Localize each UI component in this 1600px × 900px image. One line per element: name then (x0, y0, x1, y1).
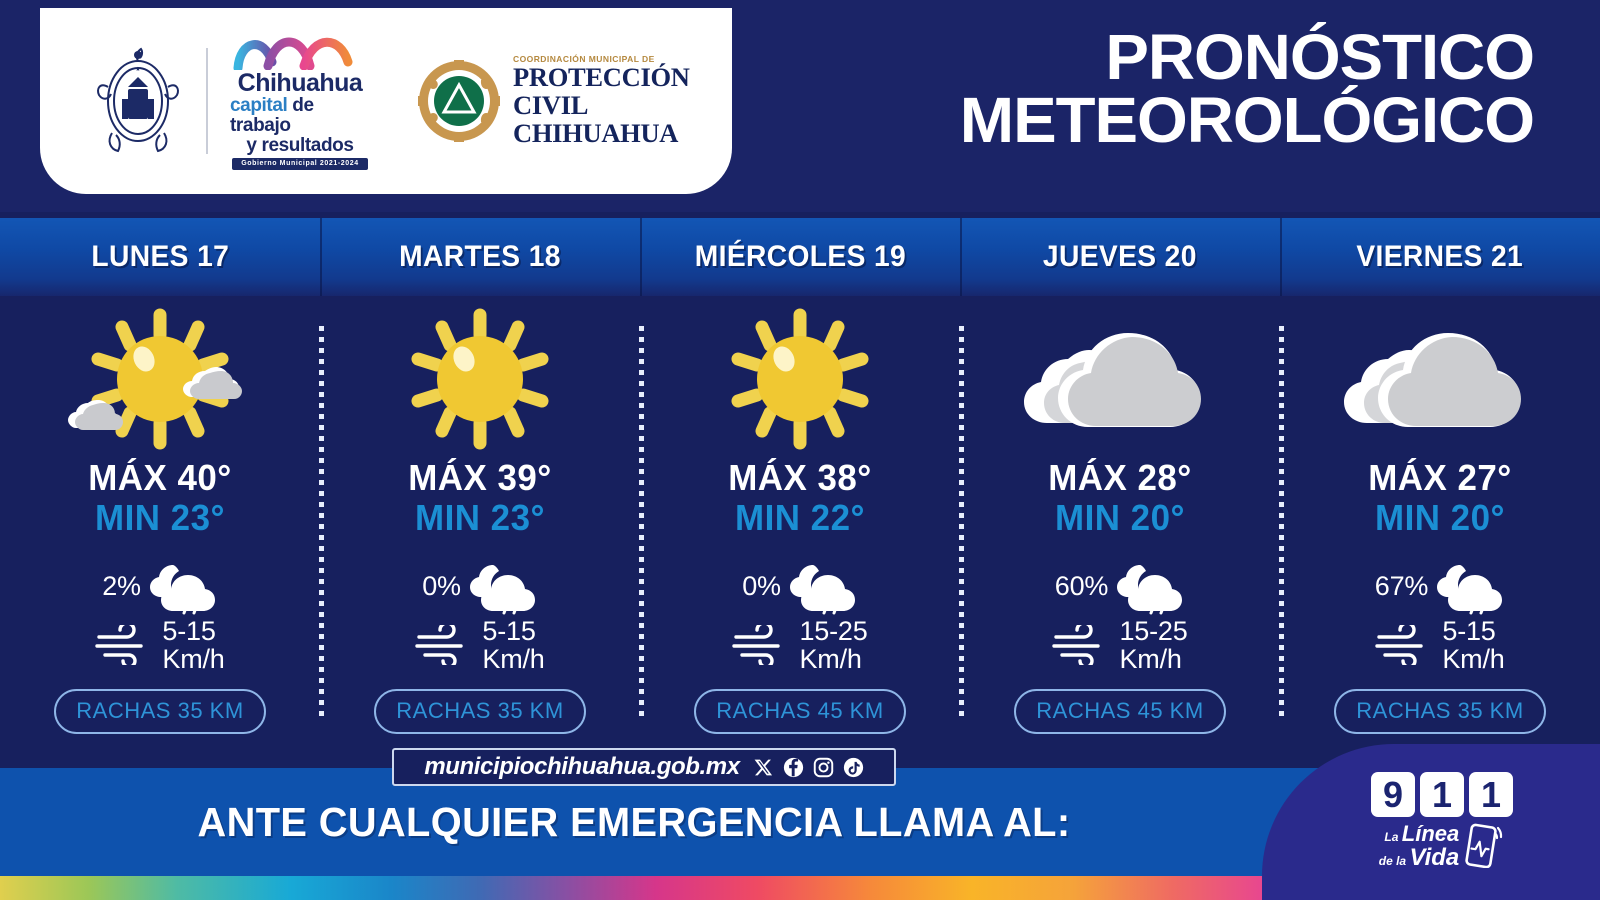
wind-speed: 5-15 (1442, 617, 1504, 645)
min-temp: MIN 23° (88, 498, 232, 538)
cloudy-icon (1340, 296, 1540, 456)
wind-icon (1052, 625, 1110, 665)
max-temp: MÁX 27° (1368, 458, 1512, 498)
wind-speed-block: 5-15 Km/h (162, 617, 224, 674)
gusts-badge: RACHAS 35 KM (1334, 689, 1545, 734)
sun-with-clouds-icon (62, 296, 258, 456)
logo-911: 9 1 1 La Línea de la Vida (1322, 772, 1562, 870)
proteccion-civil-line1: PROTECCIÓN CIVIL (513, 64, 732, 120)
wind-row: 5-15 Km/h (415, 617, 544, 674)
rain-cloud-icon (150, 559, 218, 615)
forecast-column-jueves: MÁX 28° MIN 20° 60% (960, 296, 1280, 738)
sun-icon (400, 296, 560, 456)
rain-row: 60% (1052, 559, 1187, 615)
wind-unit: Km/h (482, 645, 544, 673)
wind-speed: 15-25 (1119, 617, 1187, 645)
max-temp: MÁX 28° (1048, 458, 1192, 498)
metrics: 0% (415, 559, 544, 674)
temperatures: MÁX 27° MIN 20° (1366, 458, 1514, 539)
rain-cloud-icon (1117, 559, 1185, 615)
cloudy-icon (1020, 296, 1220, 456)
gusts-badge: RACHAS 45 KM (694, 689, 905, 734)
tagline-line1: La Línea (1379, 823, 1460, 845)
day-header-martes: MARTES 18 (320, 218, 640, 296)
emergency-tagline: La Línea de la Vida (1379, 820, 1506, 870)
day-header-miercoles: MIÉRCOLES 19 (640, 218, 960, 296)
min-temp: MIN 22° (728, 498, 872, 538)
temperatures: MÁX 40° MIN 23° (86, 458, 234, 539)
gusts-badge: RACHAS 35 KM (374, 689, 585, 734)
header: ★ (0, 0, 1600, 212)
day-header-jueves: JUEVES 20 (960, 218, 1280, 296)
wind-row: 5-15 Km/h (1375, 617, 1505, 674)
social-icons (753, 757, 864, 778)
chihuahua-logo-line1: Chihuahua (238, 71, 363, 97)
wind-speed-block: 5-15 Km/h (482, 617, 544, 674)
wind-unit: Km/h (1119, 645, 1187, 673)
wind-speed: 15-25 (799, 617, 867, 645)
forecast-column-viernes: MÁX 27° MIN 20° 67% (1280, 296, 1600, 738)
min-temp: MIN 20° (1368, 498, 1512, 538)
forecast-column-martes: MÁX 39° MIN 23° 0% (320, 296, 640, 738)
rain-chance: 0% (422, 572, 461, 600)
rainbow-strip-right-fill (1262, 876, 1600, 900)
wind-icon (95, 625, 153, 665)
rain-row: 67% (1375, 559, 1505, 615)
wind-icon (415, 625, 473, 665)
rain-cloud-icon (790, 559, 858, 615)
min-temp: MIN 23° (408, 498, 552, 538)
metrics: 67% (1375, 559, 1505, 674)
svg-text:★: ★ (135, 66, 140, 73)
max-temp: MÁX 39° (408, 458, 552, 498)
rain-row: 0% (415, 559, 544, 615)
gusts-badge: RACHAS 45 KM (1014, 689, 1225, 734)
chihuahua-logo-line2: capital de trabajo (230, 96, 370, 136)
chihuahua-logo-line3: y resultados (246, 136, 353, 156)
emergency-digit: 1 (1420, 772, 1464, 817)
emergency-digit: 9 (1371, 772, 1415, 817)
sun-icon (720, 296, 880, 456)
wind-speed-block: 15-25 Km/h (1119, 617, 1187, 674)
day-header-bar: LUNES 17 MARTES 18 MIÉRCOLES 19 JUEVES 2… (0, 218, 1600, 296)
forecast-column-lunes: MÁX 40° MIN 23° 2% (0, 296, 320, 738)
wind-icon (1375, 625, 1433, 665)
wind-row: 15-25 Km/h (1052, 617, 1187, 674)
wind-row: 5-15 Km/h (95, 617, 224, 674)
emergency-digit: 1 (1469, 772, 1513, 817)
wind-unit: Km/h (1442, 645, 1504, 673)
metrics: 2% (95, 559, 224, 674)
rain-chance: 60% (1055, 572, 1108, 600)
emergency-number: 9 1 1 (1371, 772, 1513, 817)
rain-row: 2% (95, 559, 224, 615)
website-box[interactable]: municipiochihuahua.gob.mx (392, 748, 896, 786)
logo-divider (206, 48, 208, 154)
chihuahua-municipal-crest: ★ (92, 37, 184, 165)
max-temp: MÁX 40° (88, 458, 232, 498)
day-header-viernes: VIERNES 21 (1280, 218, 1600, 296)
forecast-column-miercoles: MÁX 38° MIN 22° 0% (640, 296, 960, 738)
wind-speed: 5-15 (162, 617, 224, 645)
metrics: 0% (732, 559, 867, 674)
x-twitter-icon[interactable] (753, 757, 774, 778)
wind-icon (732, 625, 790, 665)
chihuahua-arcs-icon (230, 32, 370, 70)
tagline-line2-small: de la (1379, 854, 1406, 868)
rain-chance: 67% (1375, 572, 1428, 600)
tagline-line2-big: Vida (1409, 844, 1459, 871)
chihuahua-capital-logo: Chihuahua capital de trabajo y resultado… (230, 32, 370, 171)
proteccion-civil-logo: COORDINACIÓN MUNICIPAL DE PROTECCIÓN CIV… (418, 54, 732, 147)
day-label: LUNES 17 (91, 240, 229, 274)
phone-pulse-icon (1465, 820, 1505, 868)
proteccion-civil-emblem-icon (418, 60, 500, 142)
wind-speed-block: 15-25 Km/h (799, 617, 867, 674)
temperatures: MÁX 28° MIN 20° (1046, 458, 1194, 539)
day-label: VIERNES 21 (1357, 240, 1524, 274)
day-label: JUEVES 20 (1043, 240, 1197, 274)
tiktok-icon[interactable] (843, 757, 864, 778)
min-temp: MIN 20° (1048, 498, 1192, 538)
chihuahua-logo-capital: capital (230, 95, 287, 116)
tagline-line1-big: Línea (1402, 821, 1459, 846)
rain-chance: 2% (102, 572, 141, 600)
temperatures: MÁX 38° MIN 22° (726, 458, 874, 539)
tagline-line2: de la Vida (1379, 846, 1460, 870)
proteccion-civil-line2: CHIHUAHUA (513, 120, 732, 148)
forecast-grid: MÁX 40° MIN 23° 2% (0, 296, 1600, 738)
tagline-line1-small: La (1384, 830, 1398, 844)
max-temp: MÁX 38° (728, 458, 872, 498)
instagram-icon[interactable] (813, 757, 834, 778)
rain-cloud-icon (1437, 559, 1505, 615)
day-label: MIÉRCOLES 19 (694, 240, 905, 274)
logo-card: ★ (40, 8, 732, 194)
wind-speed: 5-15 (482, 617, 544, 645)
gusts-badge: RACHAS 35 KM (54, 689, 265, 734)
rainbow-strip (0, 876, 1262, 900)
page-title-line1: PRONÓSTICO (960, 26, 1534, 89)
rain-row: 0% (732, 559, 867, 615)
website-url[interactable]: municipiochihuahua.gob.mx (424, 753, 739, 781)
day-header-lunes: LUNES 17 (0, 218, 320, 296)
day-label: MARTES 18 (399, 240, 561, 274)
small-cloud-lower-left (68, 400, 123, 430)
emergency-tagline-text: La Línea de la Vida (1379, 823, 1460, 870)
rain-chance: 0% (742, 572, 781, 600)
chihuahua-logo-ribbon: Gobierno Municipal 2021-2024 (232, 158, 368, 170)
metrics: 60% (1052, 559, 1187, 674)
wind-row: 15-25 Km/h (732, 617, 867, 674)
wind-unit: Km/h (162, 645, 224, 673)
temperatures: MÁX 39° MIN 23° (406, 458, 554, 539)
page-title-line2: METEOROLÓGICO (960, 89, 1534, 152)
wind-speed-block: 5-15 Km/h (1442, 617, 1504, 674)
rain-cloud-icon (470, 559, 538, 615)
wind-unit: Km/h (799, 645, 867, 673)
facebook-icon[interactable] (783, 757, 804, 778)
page-title: PRONÓSTICO METEOROLÓGICO (960, 26, 1534, 151)
